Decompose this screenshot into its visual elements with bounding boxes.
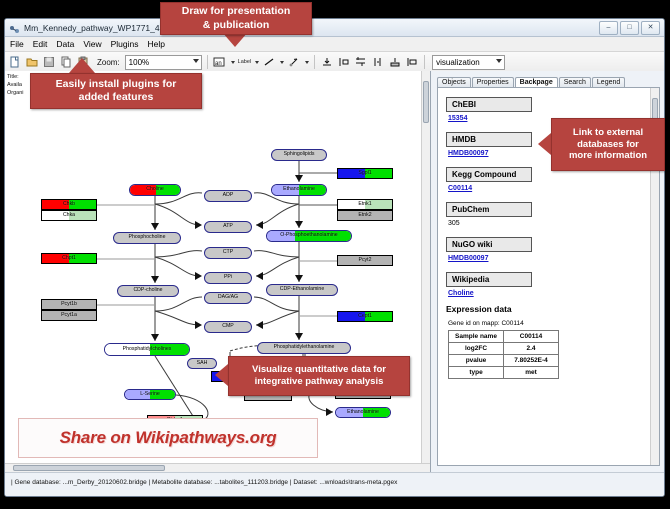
- interaction-icon[interactable]: [287, 55, 301, 69]
- statusbar: | Gene database: ...m_Derby_20120602.bri…: [5, 472, 664, 496]
- menu-data[interactable]: Data: [56, 39, 74, 49]
- db-label-chebi: ChEBI: [446, 97, 532, 112]
- pathway-canvas-panel[interactable]: Title: Availa Organi: [5, 71, 431, 472]
- vscroll-thumb[interactable]: [423, 81, 429, 123]
- callout-share: Share on Wikipathways.org: [18, 418, 318, 458]
- node-adp[interactable]: ADP: [204, 190, 252, 202]
- datanode-dropdown-icon[interactable]: [231, 61, 235, 64]
- node-chka[interactable]: Chka: [41, 210, 97, 221]
- distribute-horizontal-icon[interactable]: [371, 55, 385, 69]
- line-dropdown-icon[interactable]: [280, 61, 284, 64]
- tab-properties[interactable]: Properties: [472, 77, 514, 87]
- node-ctp[interactable]: CTP: [204, 247, 252, 259]
- new-file-icon[interactable]: [8, 55, 22, 69]
- label-dropdown-icon[interactable]: [255, 61, 259, 64]
- node-o-phosphoethanolamine[interactable]: O-Phosphoethanolamine: [266, 230, 352, 242]
- node-etnk1[interactable]: Etnk1: [337, 199, 393, 210]
- tab-search[interactable]: Search: [559, 77, 591, 87]
- db-label-kegg: Kegg Compound: [446, 167, 532, 182]
- table-row: type met: [449, 367, 559, 379]
- menu-edit[interactable]: Edit: [33, 39, 48, 49]
- node-atp[interactable]: ATP: [204, 221, 252, 233]
- callout-link-arrow-icon: [538, 133, 551, 155]
- menu-view[interactable]: View: [83, 39, 101, 49]
- node-etnk2[interactable]: Etnk2: [337, 210, 393, 221]
- zoom-label: Zoom:: [97, 58, 120, 67]
- node-cmp[interactable]: CMP: [204, 321, 252, 333]
- node-cdp-ethanolamine[interactable]: CDP-Ethanolamine: [266, 284, 338, 296]
- node-pcyt2[interactable]: Pcyt2: [337, 255, 393, 266]
- db-label-hmdb: HMDB: [446, 132, 532, 147]
- callout-link: Link to external databases for more info…: [551, 118, 665, 171]
- node-ethanolamine-1[interactable]: Ethanolamine: [271, 184, 327, 196]
- node-phosphatidylcholines[interactable]: Phosphatidylcholines: [104, 343, 190, 356]
- align-left-icon[interactable]: [337, 55, 351, 69]
- open-folder-icon[interactable]: [25, 55, 39, 69]
- db-label-nugo: NuGO wiki: [446, 237, 532, 252]
- node-chpt1[interactable]: Chpt1: [41, 253, 97, 264]
- menubar: File Edit Data View Plugins Help: [5, 37, 664, 52]
- node-sgpl1[interactable]: Sgpl1: [337, 168, 393, 179]
- label-tool-label[interactable]: Label: [238, 59, 251, 65]
- visualization-combobox[interactable]: visualization: [432, 55, 505, 70]
- datanode-icon[interactable]: an: [213, 55, 227, 69]
- db-value-pubchem: 305: [448, 220, 651, 227]
- node-cept1[interactable]: Cept1: [337, 311, 393, 322]
- cell-key: type: [449, 367, 504, 379]
- maximize-button[interactable]: □: [620, 21, 639, 35]
- menu-file[interactable]: File: [10, 39, 24, 49]
- window-controls: – □ ✕: [599, 21, 660, 35]
- node-choline-top[interactable]: Choline: [129, 184, 181, 196]
- line-icon[interactable]: [262, 55, 276, 69]
- stack-icon[interactable]: [388, 55, 402, 69]
- pathway-canvas[interactable]: Title: Availa Organi: [5, 71, 430, 472]
- svg-text:an: an: [215, 61, 222, 67]
- close-button[interactable]: ✕: [641, 21, 660, 35]
- toolbar: Zoom: 100% an Label: [5, 52, 664, 73]
- db-link-kegg[interactable]: C00114: [448, 185, 651, 192]
- pathway-organism-label: Organi: [7, 89, 24, 97]
- save-icon[interactable]: [42, 55, 56, 69]
- pathvisio-icon: [9, 22, 20, 33]
- cell-key: pvalue: [449, 355, 504, 367]
- cell-key: Sample name: [449, 331, 504, 343]
- cell-value: C00114: [504, 331, 559, 343]
- common-width-icon[interactable]: [405, 55, 419, 69]
- node-sah[interactable]: SAH: [187, 358, 217, 369]
- menu-help[interactable]: Help: [148, 39, 165, 49]
- callout-draw: Draw for presentation & publication: [160, 2, 312, 35]
- table-row: pvalue 7.80252E-4: [449, 355, 559, 367]
- node-l-serine-left[interactable]: L-Serine: [124, 389, 176, 400]
- toolbar-separator-3: [424, 55, 425, 69]
- screenshot-root: Mm_Kennedy_pathway_WP1771_45176.gpml – □…: [0, 0, 670, 509]
- expression-data-heading: Expression data: [446, 304, 651, 314]
- callout-plugins-arrow-icon: [69, 58, 95, 73]
- node-dag-ag[interactable]: DAG/AG: [204, 292, 252, 304]
- callout-plugins: Easily install plugins for added feature…: [30, 73, 202, 109]
- side-panel-tabs: Objects Properties Backpage Search Legen…: [431, 74, 664, 87]
- db-label-wikipedia: Wikipedia: [446, 272, 532, 287]
- callout-visualize-arrow-icon: [215, 364, 228, 386]
- pathway-metadata: Title: Availa Organi: [7, 73, 24, 97]
- canvas-vscrollbar[interactable]: [421, 71, 430, 472]
- chevron-down-icon-2: [496, 59, 502, 63]
- gene-id-line: Gene id on mapp: C00114: [448, 320, 651, 327]
- node-phosphocholine[interactable]: Phosphocholine: [113, 232, 181, 244]
- db-label-pubchem: PubChem: [446, 202, 532, 217]
- hscroll-thumb[interactable]: [13, 465, 165, 471]
- node-chkb[interactable]: Chkb: [41, 199, 97, 210]
- db-link-wikipedia[interactable]: Choline: [448, 290, 651, 297]
- window-titlebar: Mm_Kennedy_pathway_WP1771_45176.gpml – □…: [5, 19, 664, 37]
- cell-key: log2FC: [449, 343, 504, 355]
- canvas-hscrollbar[interactable]: [5, 463, 430, 472]
- distribute-vertical-icon[interactable]: [354, 55, 368, 69]
- tab-legend[interactable]: Legend: [592, 77, 625, 87]
- node-pcyt1a[interactable]: Pcyt1a: [41, 310, 97, 321]
- visualization-value: visualization: [436, 58, 480, 67]
- cell-value: met: [504, 367, 559, 379]
- cell-value: 7.80252E-4: [504, 355, 559, 367]
- share-text: Share on Wikipathways.org: [60, 428, 277, 448]
- toolbar-separator-2: [314, 55, 315, 69]
- status-text: | Gene database: ...m_Derby_20120602.bri…: [11, 479, 397, 486]
- cell-value: 2.4: [504, 343, 559, 355]
- zoom-value: 100%: [129, 58, 149, 67]
- node-phosphatidylethanolamine[interactable]: Phosphatidylethanolamine: [257, 342, 351, 354]
- node-sphingolipids[interactable]: Sphingolipids: [271, 149, 327, 161]
- node-cdp-choline[interactable]: CDP-choline: [117, 285, 179, 297]
- pathway-availability-label: Availa: [7, 81, 24, 89]
- db-link-nugo[interactable]: HMDB00097: [448, 255, 651, 262]
- align-top-icon[interactable]: [320, 55, 334, 69]
- toolbar-separator: [207, 55, 208, 69]
- menu-plugins[interactable]: Plugins: [111, 39, 139, 49]
- node-ppi[interactable]: PPi: [204, 272, 252, 284]
- callout-visualize: Visualize quantitative data for integrat…: [228, 356, 410, 396]
- interaction-dropdown-icon[interactable]: [305, 61, 309, 64]
- node-ethanolamine-2[interactable]: Ethanolamine: [335, 407, 391, 418]
- expression-data-table: Sample name C00114 log2FC 2.4 pvalue 7.8…: [448, 330, 559, 379]
- table-row: Sample name C00114: [449, 331, 559, 343]
- chevron-down-icon: [193, 59, 199, 63]
- minimize-button[interactable]: –: [599, 21, 618, 35]
- pathway-title-label: Title:: [7, 73, 24, 81]
- table-row: log2FC 2.4: [449, 343, 559, 355]
- tab-objects[interactable]: Objects: [437, 77, 471, 87]
- zoom-combobox[interactable]: 100%: [125, 55, 202, 70]
- node-pcyt1b[interactable]: Pcyt1b: [41, 299, 97, 310]
